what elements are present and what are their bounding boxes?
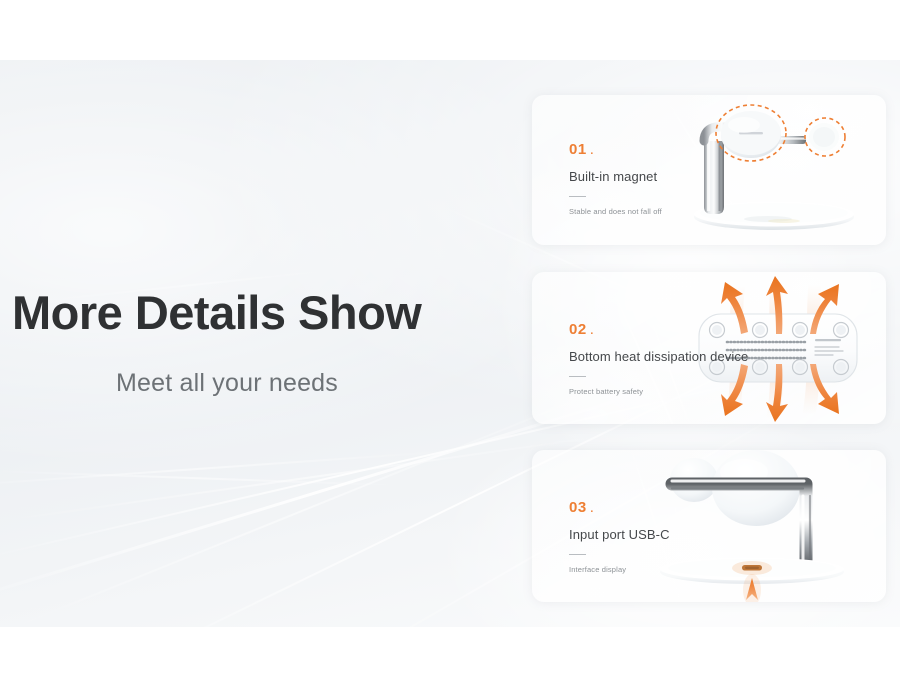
feature-card-3[interactable]: 03. Input port USB-C Interface display: [532, 450, 886, 602]
feature-card-2[interactable]: 02. Bottom heat dissipation device Prote…: [532, 272, 886, 424]
feature-divider: [569, 376, 586, 377]
feature-text-2: 02. Bottom heat dissipation device Prote…: [569, 322, 748, 396]
feature-caption: Protect battery safety: [569, 387, 748, 396]
feature-card-1[interactable]: 01. Built-in magnet Stable and does not …: [532, 95, 886, 245]
page-title: More Details Show: [12, 288, 482, 337]
feature-title: Built-in magnet: [569, 169, 662, 185]
top-white-band: [0, 0, 900, 60]
feature-text-1: 01. Built-in magnet Stable and does not …: [569, 142, 662, 216]
usb-c-input-port-illustration: [646, 450, 886, 602]
page-subtitle: Meet all your needs: [12, 369, 482, 398]
feature-number: 03.: [569, 500, 670, 515]
feature-caption: Interface display: [569, 565, 670, 574]
card-light-ray: [681, 95, 791, 245]
feature-text-3: 03. Input port USB-C Interface display: [569, 500, 670, 574]
feature-divider: [569, 196, 586, 197]
bottom-white-band: [0, 627, 900, 675]
feature-caption: Stable and does not fall off: [569, 207, 662, 216]
card-light-ray: [651, 95, 790, 245]
feature-title: Bottom heat dissipation device: [569, 349, 748, 365]
headline-block: More Details Show Meet all your needs: [12, 288, 482, 398]
feature-number: 01.: [569, 142, 662, 157]
feature-number: 02.: [569, 322, 748, 337]
feature-title: Input port USB-C: [569, 527, 670, 543]
magnetic-charging-stand-illustration: [656, 95, 886, 245]
slide-root: More Details Show Meet all your needs 01…: [0, 0, 900, 675]
feature-divider: [569, 554, 586, 555]
